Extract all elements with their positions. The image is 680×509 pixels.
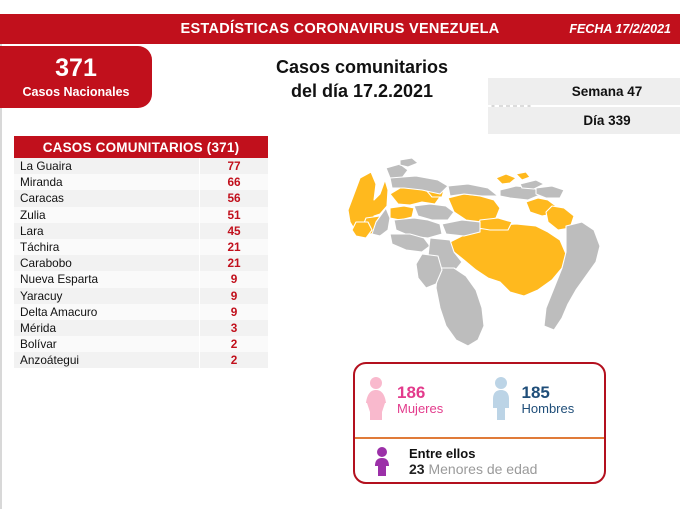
venezuela-map: [330, 150, 678, 355]
men-stat: 185 Hombres: [480, 364, 605, 436]
community-cases-table: CASOS COMUNITARIOS (371) La Guaira77Mira…: [14, 136, 268, 368]
minors-count: 23: [409, 461, 425, 477]
table-cell-value: 9: [200, 304, 268, 320]
table-cell-value: 21: [200, 239, 268, 255]
table-cell-value: 2: [200, 336, 268, 352]
minors-label: Menores de edad: [428, 461, 537, 477]
table-cell-state: Bolívar: [14, 336, 200, 352]
table-cell-value: 45: [200, 223, 268, 239]
table-row: Mérida3: [14, 320, 268, 336]
table-cell-state: Mérida: [14, 320, 200, 336]
national-cases-label: Casos Nacionales: [23, 85, 130, 99]
men-label: Hombres: [522, 402, 575, 417]
minors-line1: Entre ellos: [409, 446, 537, 461]
week-day-panel: Semana 47 Día 339: [488, 78, 680, 134]
men-text: 185 Hombres: [522, 383, 575, 417]
women-count: 186: [397, 383, 425, 402]
table-row: Carabobo21: [14, 255, 268, 271]
table-cell-state: Miranda: [14, 174, 200, 190]
infographic-page: ESTADÍSTICAS CORONAVIRUS VENEZUELA FECHA…: [0, 0, 680, 509]
minors-row: Entre ellos 23 Menores de edad: [355, 442, 604, 482]
table-row: Nueva Esparta9: [14, 271, 268, 287]
week-row: Semana 47: [488, 78, 680, 105]
week-label: Semana 47: [526, 84, 643, 99]
gender-row: 186 Mujeres 185 Hombres: [355, 364, 604, 436]
table-cell-value: 66: [200, 174, 268, 190]
table-cell-state: Carabobo: [14, 255, 200, 271]
table-row: Zulia51: [14, 207, 268, 223]
table-row: La Guaira77: [14, 158, 268, 174]
table-body: La Guaira77Miranda66Caracas56Zulia51Lara…: [14, 158, 268, 368]
section-title: Casos comunitarios del día 17.2.2021: [232, 56, 492, 104]
women-text: 186 Mujeres: [397, 383, 443, 417]
table-cell-value: 77: [200, 158, 268, 174]
table-cell-value: 3: [200, 320, 268, 336]
table-row: Anzoátegui2: [14, 352, 268, 368]
table-cell-state: Zulia: [14, 207, 200, 223]
table-cell-state: Delta Amacuro: [14, 304, 200, 320]
table-row: Delta Amacuro9: [14, 304, 268, 320]
women-stat: 186 Mujeres: [355, 364, 480, 436]
header-date: FECHA 17/2/2021: [569, 14, 671, 44]
table-row: Táchira21: [14, 239, 268, 255]
section-title-line1: Casos comunitarios: [232, 56, 492, 80]
male-figure-icon: [480, 376, 522, 424]
table-cell-state: Táchira: [14, 239, 200, 255]
day-row: Día 339: [488, 107, 680, 134]
table-row: Yaracuy9: [14, 288, 268, 304]
table-cell-value: 2: [200, 352, 268, 368]
national-cases-number: 371: [55, 56, 97, 81]
table-header: CASOS COMUNITARIOS (371): [14, 136, 268, 158]
table-row: Caracas56: [14, 190, 268, 206]
table-cell-state: Anzoátegui: [14, 352, 200, 368]
table-row: Lara45: [14, 223, 268, 239]
top-white-strip: [0, 0, 680, 14]
table-cell-state: La Guaira: [14, 158, 200, 174]
table-cell-state: Nueva Esparta: [14, 271, 200, 287]
women-label: Mujeres: [397, 402, 443, 417]
section-title-line2: del día 17.2.2021: [232, 80, 492, 104]
table-row: Miranda66: [14, 174, 268, 190]
card-divider: [355, 437, 604, 439]
table-cell-value: 21: [200, 255, 268, 271]
table-cell-state: Lara: [14, 223, 200, 239]
female-figure-icon: [355, 376, 397, 424]
table-cell-state: Yaracuy: [14, 288, 200, 304]
minors-line2: 23 Menores de edad: [409, 461, 537, 478]
national-cases-badge: 371 Casos Nacionales: [0, 46, 152, 108]
men-count: 185: [522, 383, 550, 402]
child-figure-icon: [355, 446, 409, 478]
table-cell-value: 9: [200, 288, 268, 304]
table-cell-value: 51: [200, 207, 268, 223]
minors-text: Entre ellos 23 Menores de edad: [409, 446, 537, 478]
demographics-card: 186 Mujeres 185 Hombres: [353, 362, 606, 484]
table-cell-value: 56: [200, 190, 268, 206]
day-label: Día 339: [537, 113, 630, 128]
table-row: Bolívar2: [14, 336, 268, 352]
table-cell-state: Caracas: [14, 190, 200, 206]
table-cell-value: 9: [200, 271, 268, 287]
